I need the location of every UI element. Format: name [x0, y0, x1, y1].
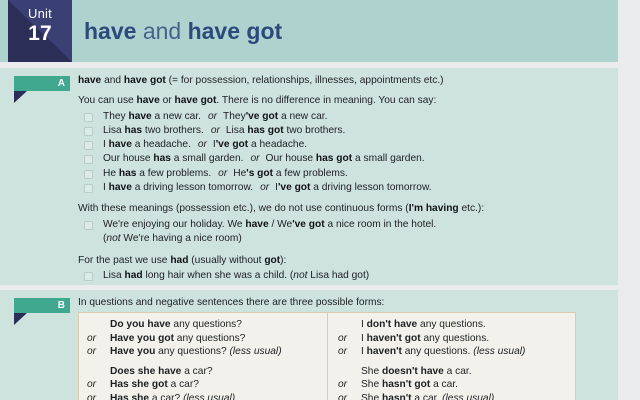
page-margin — [618, 0, 640, 400]
table-row: Do you have any questions? — [80, 318, 324, 332]
example-b-pre: Lisa — [226, 125, 248, 136]
row-pre: She — [361, 393, 382, 400]
table-row: orHave you got any questions? — [80, 332, 324, 346]
row-post: any questions? — [174, 333, 245, 344]
example-a-bold: has — [119, 168, 137, 179]
past-ex-not: not — [293, 270, 307, 281]
example-b-pre: They — [223, 111, 246, 122]
page-title: have and have got — [84, 16, 282, 46]
continuous-example-list: We're enjoying our holiday. We have / We… — [78, 218, 610, 246]
past-ex-pre: Lisa — [103, 270, 125, 281]
past-lead-text-2: (usually without — [188, 255, 264, 266]
list-item: They have a new car.orThey've got a new … — [78, 110, 610, 124]
example-a-pre: Lisa — [103, 125, 125, 136]
table-row: orShe hasn't a car. (less usual) — [331, 392, 575, 400]
continuous-lead-bold: I'm having — [409, 203, 459, 214]
example-a-post: a small garden. — [171, 153, 243, 164]
cont-ex-post: a nice room in the hotel. — [325, 219, 437, 230]
lead-text-2: or — [163, 95, 172, 106]
row-bold-form: Does she have — [110, 366, 181, 377]
example-b-bold: 've got — [246, 111, 278, 122]
past-lead-bold-got: got — [264, 255, 280, 266]
example-b-post: two brothers. — [284, 125, 346, 136]
past-lead-bold-had: had — [170, 255, 188, 266]
row-bold-form: don't have — [367, 319, 418, 330]
example-a-bold: has — [125, 125, 143, 136]
row-or-label: or — [87, 378, 96, 391]
example-b-bold: 've got — [216, 139, 248, 150]
section-a-heading: have and have got (= for possession, rel… — [78, 74, 610, 87]
example-a-post: a few problems. — [136, 168, 211, 179]
example-or: or — [201, 111, 223, 122]
cont-note-not: not — [106, 233, 120, 244]
lead-text-3: . There is no difference in meaning. You… — [216, 95, 436, 106]
section-a-body: have and have got (= for possession, rel… — [78, 74, 610, 283]
past-lead-text-1: For the past we use — [78, 255, 170, 266]
heading-have-got: have got — [124, 75, 166, 86]
example-b-pre: He — [233, 168, 246, 179]
continuous-lead: With these meanings (possession etc.), w… — [78, 202, 610, 215]
example-a-post: two brothers. — [142, 125, 204, 136]
lead-text-1: You can use — [78, 95, 134, 106]
row-or-label: or — [338, 378, 347, 391]
row-post: a car? — [181, 366, 212, 377]
row-post: any questions. — [402, 346, 471, 357]
row-post: a car. — [412, 393, 440, 400]
section-b: B In questions and negative sentences th… — [0, 290, 618, 400]
heading-and: and — [104, 75, 121, 86]
list-item: Lisa has two brothers.orLisa has got two… — [78, 124, 610, 138]
row-bold-form: Has she got — [110, 379, 168, 390]
example-a-post: a headache. — [132, 139, 191, 150]
section-a-tab: A — [14, 76, 70, 91]
table-row: orI haven't got any questions. — [331, 332, 575, 346]
section-a: A have and have got (= for possession, r… — [0, 68, 618, 285]
row-bold-form: Do you have — [110, 319, 171, 330]
section-b-heading: In questions and negative sentences ther… — [78, 296, 610, 309]
forms-column-negatives: I don't have any questions.orI haven't g… — [331, 318, 575, 400]
example-a-bold: have — [109, 182, 132, 193]
example-or: or — [204, 125, 226, 136]
page-header: Unit 17 have and have got — [0, 0, 618, 62]
table-row: Does she have a car? — [80, 365, 324, 379]
section-b-letter: B — [58, 298, 65, 313]
example-a-bold: have — [128, 111, 151, 122]
title-and: and — [143, 18, 181, 44]
list-item: He has a few problems.orHe's got a few p… — [78, 167, 610, 181]
row-less-usual-note: (less usual) — [470, 346, 525, 357]
row-less-usual-note: (less usual) — [227, 346, 282, 357]
unit-badge: Unit 17 — [8, 0, 72, 62]
unit-label: Unit — [8, 0, 72, 21]
row-post: any questions. — [421, 333, 490, 344]
row-pre: She — [361, 379, 382, 390]
cont-note-rest: We're having a nice room) — [121, 233, 242, 244]
example-a-post: a new car. — [152, 111, 201, 122]
section-b-fold-icon — [14, 313, 27, 325]
example-b-pre: Our house — [266, 153, 316, 164]
lead-bold-have-got: have got — [175, 95, 217, 106]
continuous-lead-text-1: With these meanings (possession etc.), w… — [78, 203, 409, 214]
example-b-post: a small garden. — [352, 153, 424, 164]
past-lead: For the past we use had (usually without… — [78, 254, 610, 267]
row-less-usual-note: (less usual) — [180, 393, 235, 400]
row-post: a car? — [168, 379, 199, 390]
row-bold-form: Have you got — [110, 333, 174, 344]
example-a-pre: He — [103, 168, 119, 179]
section-a-lead: You can use have or have got. There is n… — [78, 94, 610, 107]
row-bold-form: Have you — [110, 346, 155, 357]
table-row: orShe hasn't got a car. — [331, 378, 575, 392]
table-row: She doesn't have a car. — [331, 365, 575, 379]
example-b-post: a headache. — [248, 139, 307, 150]
table-row: orHas she got a car? — [80, 378, 324, 392]
row-bold-form: hasn't got — [382, 379, 430, 390]
list-item: Our house has a small garden.orOur house… — [78, 152, 610, 166]
section-b-body: In questions and negative sentences ther… — [78, 296, 610, 313]
example-b-post: a new car. — [278, 111, 327, 122]
forms-column-questions: Do you have any questions?orHave you got… — [80, 318, 324, 400]
row-or-label: or — [87, 332, 96, 345]
row-or-label: or — [87, 345, 96, 358]
row-or-label: or — [338, 332, 347, 345]
example-or: or — [191, 139, 213, 150]
title-have: have — [84, 18, 136, 44]
row-post: a car? — [149, 393, 180, 400]
example-b-bold: 've got — [278, 182, 310, 193]
table-row: orHave you any questions? (less usual) — [80, 345, 324, 359]
row-or-label: or — [87, 392, 96, 400]
table-row: orI haven't any questions. (less usual) — [331, 345, 575, 359]
table-row: I don't have any questions. — [331, 318, 575, 332]
past-ex-post: long hair when she was a child. ( — [143, 270, 294, 281]
row-post: a car. — [430, 379, 458, 390]
example-b-post: a driving lesson tomorrow. — [310, 182, 431, 193]
title-have-got: have got — [188, 18, 283, 44]
row-post: any questions. — [417, 319, 486, 330]
row-post: any questions? — [155, 346, 226, 357]
list-item: I have a driving lesson tomorrow.orI've … — [78, 181, 610, 195]
grammar-page: Unit 17 have and have got A have and hav… — [0, 0, 640, 400]
column-divider — [327, 313, 328, 400]
cont-ex-pre: We're enjoying our holiday. We — [103, 219, 245, 230]
example-b-post: a few problems. — [273, 168, 348, 179]
row-bold-form: haven't got — [367, 333, 421, 344]
row-or-label: or — [338, 392, 347, 400]
list-item-note: (not We're having a nice room) — [78, 232, 610, 246]
row-less-usual-note: (less usual) — [439, 393, 494, 400]
example-b-bold: 's got — [246, 168, 273, 179]
heading-have: have — [78, 75, 101, 86]
example-a-bold: have — [109, 139, 132, 150]
row-bold-form: hasn't — [382, 393, 412, 400]
section-a-letter: A — [58, 76, 65, 91]
row-bold-form: doesn't have — [382, 366, 444, 377]
example-a-bold: has — [153, 153, 171, 164]
list-item: Lisa had long hair when she was a child.… — [78, 269, 610, 283]
table-row: orHas she a car? (less usual) — [80, 392, 324, 400]
cont-ex-bold-have: have — [245, 219, 268, 230]
continuous-lead-text-2: etc.): — [459, 203, 484, 214]
heading-tail: (= for possession, relationships, illnes… — [169, 75, 444, 86]
row-post: a car. — [444, 366, 472, 377]
example-a-post: a driving lesson tomorrow. — [132, 182, 253, 193]
lead-bold-have: have — [137, 95, 160, 106]
row-bold-form: haven't — [367, 346, 402, 357]
cont-ex-bold-vegot: 've got — [292, 219, 324, 230]
example-b-bold: has got — [247, 125, 283, 136]
example-a-pre: They — [103, 111, 128, 122]
example-or: or — [211, 168, 233, 179]
list-item: I have a headache.orI've got a headache. — [78, 138, 610, 152]
past-ex-bold-had: had — [125, 270, 143, 281]
forms-table: Do you have any questions?orHave you got… — [78, 312, 576, 400]
past-ex-note-rest: Lisa had got) — [307, 270, 369, 281]
past-example-list: Lisa had long hair when she was a child.… — [78, 269, 610, 283]
example-or: or — [253, 182, 275, 193]
row-pre: She — [361, 366, 382, 377]
unit-number: 17 — [8, 22, 72, 46]
row-bold-form: Has she — [110, 393, 149, 400]
past-lead-text-3: ): — [280, 255, 286, 266]
cont-ex-mid: / We — [269, 219, 293, 230]
row-or-label: or — [338, 345, 347, 358]
example-b-bold: has got — [316, 153, 352, 164]
section-b-tab: B — [14, 298, 70, 313]
section-a-fold-icon — [14, 91, 27, 103]
example-or: or — [243, 153, 265, 164]
list-item: We're enjoying our holiday. We have / We… — [78, 218, 610, 232]
row-post: any questions? — [171, 319, 242, 330]
section-a-example-list: They have a new car.orThey've got a new … — [78, 110, 610, 195]
example-a-pre: Our house — [103, 153, 153, 164]
